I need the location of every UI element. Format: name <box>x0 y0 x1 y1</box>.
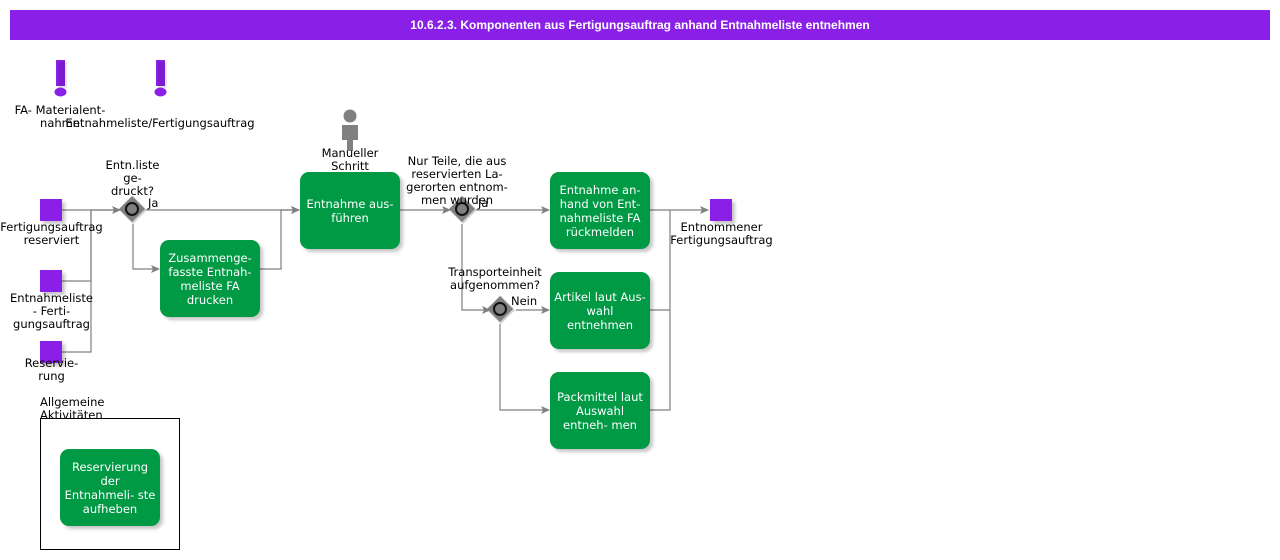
event-label-entnahmeliste-fertigungsauftrag: Entnahmeliste - Ferti- gungsauftrag <box>0 292 109 331</box>
task-zusammengefasste-entnahmeliste-drucken[interactable]: Zusammenge- fasste Entnah- meliste FA dr… <box>160 240 260 317</box>
task-entnahme-ausfuehren[interactable]: Entnahme aus- führen <box>300 172 400 249</box>
page-title: 10.6.2.3. Komponenten aus Fertigungsauft… <box>10 10 1270 40</box>
event-entnahmeliste-fertigungsauftrag[interactable] <box>40 270 62 292</box>
flow-label-ja-1: Ja <box>148 197 178 210</box>
event-label-entnommener-fertigungsauftrag: Entnommener Fertigungsauftrag <box>659 221 784 247</box>
exclamation-icon <box>152 58 170 102</box>
task-packmittel-entnehmen[interactable]: Packmittel laut Auswahl entneh- men <box>550 372 650 449</box>
task-reservierung-aufheben[interactable]: Reservierung der Entnahmeli- ste aufhebe… <box>60 449 160 526</box>
gateway-label-transporteinheit: Transporteinheit aufgenommen? <box>445 266 545 292</box>
event-entnommener-fertigungsauftrag[interactable] <box>710 199 732 221</box>
event-label-reservierung: Reservie- rung <box>0 357 109 383</box>
task-entnahme-rueckmelden[interactable]: Entnahme an- hand von Ent- nahmeliste FA… <box>550 172 650 249</box>
annotation-label-entnahmeliste-fertigungsauftrag: Entnahmeliste/Fertigungsauftrag <box>62 117 258 130</box>
gateway-entnliste-gedruckt[interactable] <box>118 195 148 225</box>
exclamation-icon <box>52 58 70 102</box>
event-fertigungsauftrag-reserviert[interactable] <box>40 199 62 221</box>
diagram-canvas: 10.6.2.3. Komponenten aus Fertigungsauft… <box>0 0 1280 560</box>
flow-label-nein: Nein <box>511 295 546 308</box>
event-label-fertigungsauftrag-reserviert: Fertigungsauftrag reserviert <box>0 221 109 247</box>
flow-label-ja-2: Ja <box>478 197 508 210</box>
annotation-label-manueller-schritt: Manueller Schritt <box>300 147 400 173</box>
gateway-label-entnliste-gedruckt: Entn.liste ge- druckt? <box>90 159 175 198</box>
task-artikel-entnehmen[interactable]: Artikel laut Aus- wahl entnehmen <box>550 272 650 349</box>
